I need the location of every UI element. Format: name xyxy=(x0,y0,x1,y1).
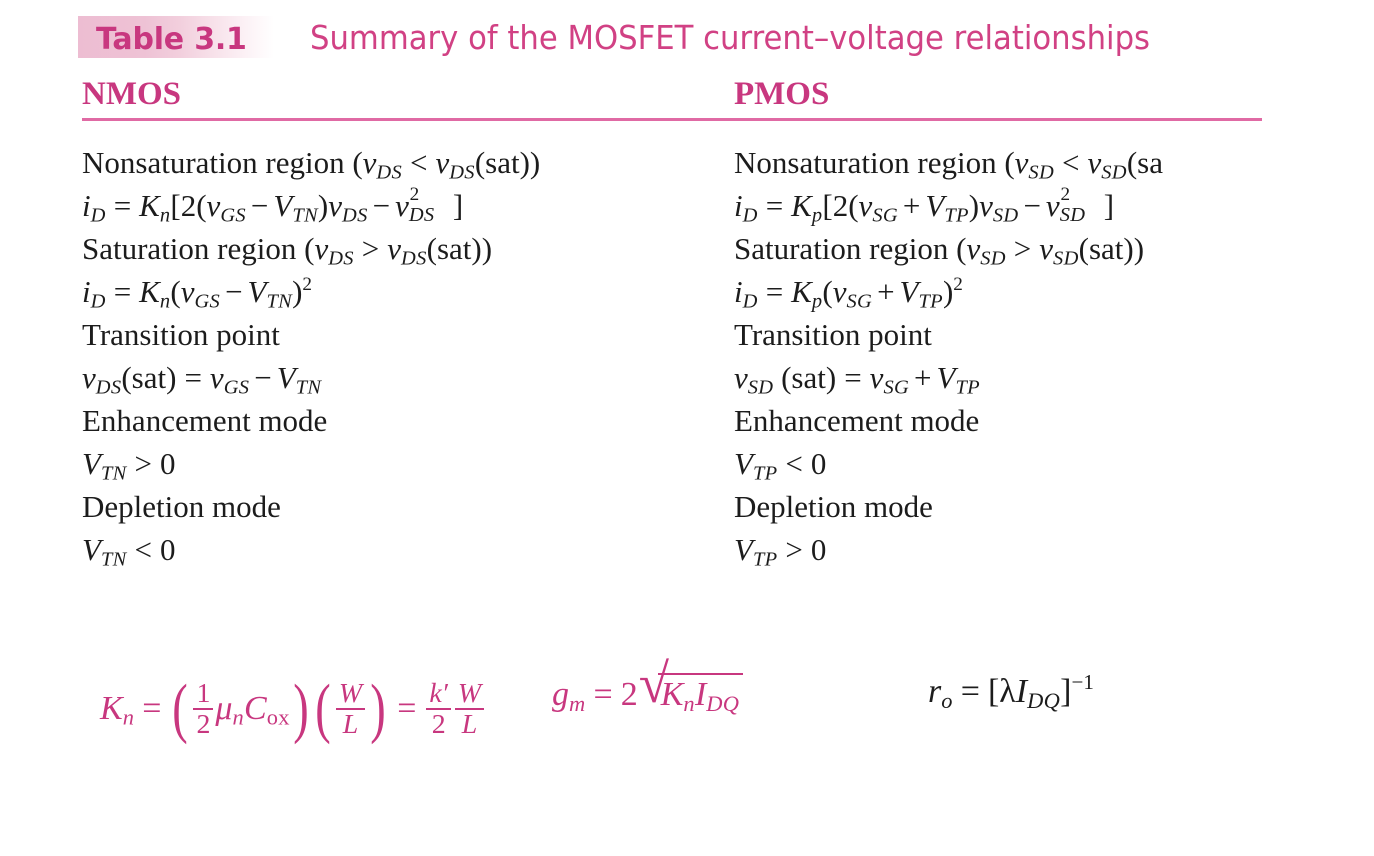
pmos-saturation-region-label: Saturation region (vSD>vSD(sat)) xyxy=(734,227,1374,270)
left-paren-large: ( xyxy=(173,671,188,747)
nmos-nonsaturation-equation: iD=Kn[2(vGS−VTN)vDS−v2DS] xyxy=(82,184,722,227)
sym-v: v xyxy=(363,145,377,180)
column-nmos: Nonsaturation region (vDS<vDS(sat)) iD=K… xyxy=(82,141,722,571)
pmos-depletion-mode-condition: VTP>0 xyxy=(734,528,1374,571)
nmos-transition-point-equation: vDS(sat)=vGS−VTN xyxy=(82,356,722,399)
ro-formula: ro=[λIDQ]−1 xyxy=(928,673,1094,711)
w-over-l-fraction-2: WL xyxy=(455,679,484,739)
v-sd-squared: 2SD xyxy=(1060,185,1104,216)
label-text: Nonsaturation region xyxy=(82,145,345,180)
summary-formula-strip: Kn=(12μnCox)(WL)=k′2WL gm=2√KnIDQ ro=[λI… xyxy=(0,655,1374,780)
nmos-depletion-mode-condition: VTN<0 xyxy=(82,528,722,571)
nmos-saturation-equation: iD=Kn(vGS−VTN)2 xyxy=(82,270,722,313)
one-half-fraction: 12 xyxy=(193,679,213,739)
pmos-enhancement-mode-condition: VTP<0 xyxy=(734,442,1374,485)
column-header-nmos: NMOS xyxy=(82,76,181,113)
column-header-pmos: PMOS xyxy=(734,76,829,113)
v-ds-squared: 2DS xyxy=(409,185,453,216)
pmos-nonsaturation-region-label: Nonsaturation region (vSD<vSD(sa xyxy=(734,141,1374,184)
pmos-enhancement-mode-label: Enhancement mode xyxy=(734,399,1374,442)
kn-prime-over-two-fraction: k′2 xyxy=(426,679,450,739)
square-root: √KnIDQ xyxy=(639,673,744,714)
pmos-nonsaturation-equation: iD=Kp[2(vSG+VTP)vSD−v2SD] xyxy=(734,184,1374,227)
pmos-transition-point-equation: vSD (sat)=vSG+VTP xyxy=(734,356,1374,399)
nmos-nonsaturation-region-label: Nonsaturation region (vDS<vDS(sat)) xyxy=(82,141,722,184)
header-divider-rule xyxy=(82,118,1262,121)
nmos-transition-point-label: Transition point xyxy=(82,313,722,356)
table-number-label: Table 3.1 xyxy=(96,22,247,57)
right-paren-large-2: ) xyxy=(370,671,385,747)
nmos-enhancement-mode-condition: VTN>0 xyxy=(82,442,722,485)
right-paren-large: ) xyxy=(293,671,308,747)
column-pmos: Nonsaturation region (vSD<vSD(sa iD=Kp[2… xyxy=(734,141,1374,571)
pmos-transition-point-label: Transition point xyxy=(734,313,1374,356)
pmos-depletion-mode-label: Depletion mode xyxy=(734,485,1374,528)
pmos-saturation-equation: iD=Kp(vSG+VTP)2 xyxy=(734,270,1374,313)
w-over-l-fraction: WL xyxy=(336,679,365,739)
radical-sign: √ xyxy=(639,656,669,711)
nmos-saturation-region-label: Saturation region (vDS>vDS(sat)) xyxy=(82,227,722,270)
nmos-enhancement-mode-label: Enhancement mode xyxy=(82,399,722,442)
table-title: Summary of the MOSFET current–voltage re… xyxy=(310,18,1150,57)
kn-formula: Kn=(12μnCox)(WL)=k′2WL xyxy=(100,673,486,749)
nmos-depletion-mode-label: Depletion mode xyxy=(82,485,722,528)
gm-formula: gm=2√KnIDQ xyxy=(552,673,743,714)
radicand: KnIDQ xyxy=(658,673,744,714)
title-row: Table 3.1 Summary of the MOSFET current–… xyxy=(0,8,1374,60)
left-paren-large-2: ( xyxy=(315,671,330,747)
